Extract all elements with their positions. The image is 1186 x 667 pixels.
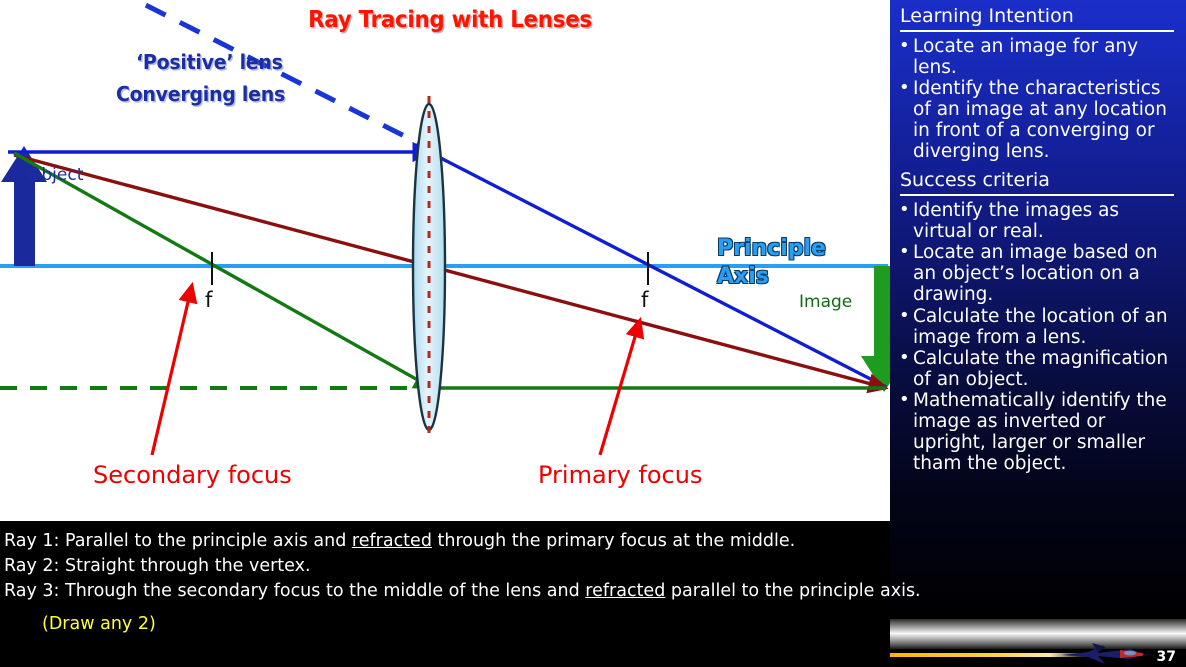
lens-type-label-positive: ‘Positive’ lens: [136, 50, 283, 74]
ray-rule-3: Ray 3: Through the secondary focus to th…: [4, 579, 890, 604]
list-item: Identify the characteristics of an image…: [898, 78, 1178, 162]
ray-diagram-panel: Ray Tracing with Lenses ‘Positive’ lens …: [0, 0, 890, 521]
principle-axis-label-line1: Principle: [717, 236, 826, 261]
ray-rule-3-suffix: parallel to the principle axis.: [665, 581, 920, 601]
lens-type-label-converging: Converging lens: [116, 82, 285, 106]
list-item: Mathematically identify the image as inv…: [898, 390, 1178, 474]
slide-canvas: Ray Tracing with Lenses ‘Positive’ lens …: [0, 0, 1186, 667]
ray-rule-1-prefix: Ray 1: Parallel to the principle axis an…: [4, 531, 352, 551]
slide-footer-decoration: 37: [890, 619, 1186, 667]
object-label: Object: [28, 165, 83, 185]
learning-intention-divider: [900, 30, 1174, 32]
success-criteria-heading: Success criteria: [900, 170, 1178, 192]
ray-rule-1-emphasis: refracted: [352, 531, 432, 551]
image-label: Image: [799, 292, 852, 312]
principle-axis-label-line2: Axis: [717, 264, 769, 289]
list-item: Calculate the magnification of an object…: [898, 348, 1178, 390]
converging-lens-shape: [413, 96, 445, 438]
focal-length-label-left: f: [205, 288, 212, 312]
list-item: Locate an image based on an object’s loc…: [898, 242, 1178, 305]
ray-rule-3-emphasis: refracted: [585, 581, 665, 601]
success-criteria-list: Identify the images as virtual or real. …: [898, 200, 1178, 474]
secondary-focus-callout-arrow: [152, 285, 192, 455]
ray-rule-2: Ray 2: Straight through the vertex.: [4, 554, 890, 579]
focal-length-label-right: f: [641, 288, 648, 312]
list-item: Identify the images as virtual or real.: [898, 200, 1178, 242]
object-arrow: [1, 146, 47, 266]
ray-rule-3-prefix: Ray 3: Through the secondary focus to th…: [4, 581, 585, 601]
footer-gradient-band-top: [890, 619, 1186, 633]
success-criteria-divider: [900, 194, 1174, 196]
ray-rules-notes: Ray 1: Parallel to the principle axis an…: [0, 521, 890, 667]
learning-objectives-panel: Learning Intention Locate an image for a…: [890, 0, 1186, 619]
learning-intention-list: Locate an image for any lens. Identify t…: [898, 36, 1178, 162]
slide-number: 37: [1157, 649, 1176, 665]
ray-rule-1: Ray 1: Parallel to the principle axis an…: [4, 529, 890, 554]
learning-intention-heading: Learning Intention: [900, 6, 1178, 28]
ray-rule-1-suffix: through the primary focus at the middle.: [432, 531, 795, 551]
draw-any-note: (Draw any 2): [42, 614, 890, 634]
jet-plane-icon: [1058, 639, 1158, 667]
list-item: Calculate the location of an image from …: [898, 306, 1178, 348]
primary-focus-label: Primary focus: [538, 461, 702, 489]
secondary-focus-label: Secondary focus: [93, 461, 292, 489]
page-title: Ray Tracing with Lenses: [301, 7, 599, 33]
image-arrow: [861, 266, 890, 392]
list-item: Locate an image for any lens.: [898, 36, 1178, 78]
